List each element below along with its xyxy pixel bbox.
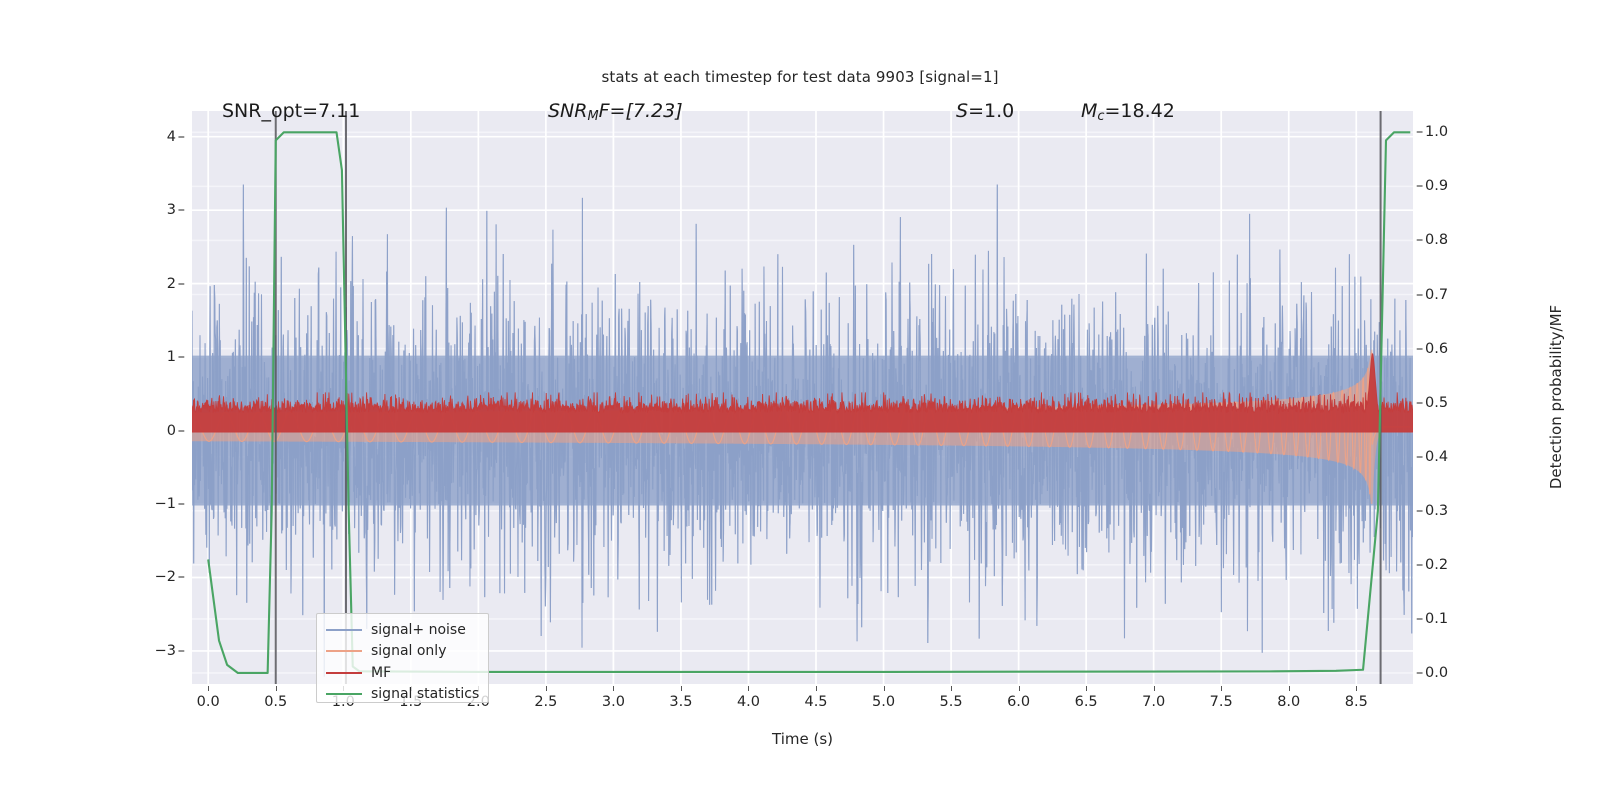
legend-swatch-icon [326, 650, 362, 652]
x-tick-7: 3.5 [651, 694, 711, 710]
x-tick-mark-9 [816, 686, 817, 691]
y-tick-left-4: 0– [125, 423, 185, 439]
y-tick-right-4: –0.6 [1416, 341, 1486, 357]
x-tick-mark-14 [1154, 686, 1155, 691]
legend-item-1[interactable]: signal only [317, 641, 488, 663]
y-tick-right-0: –1.0 [1416, 124, 1486, 140]
y-tick-left-1: 3– [125, 202, 185, 218]
legend-item-2[interactable]: MF [317, 662, 488, 684]
annotation-mc-post: =18.42 [1105, 100, 1175, 122]
y-tick-right-1: –0.9 [1416, 178, 1486, 194]
annotation-snr-opt: SNR_opt=7.11 [222, 100, 360, 122]
y-tick-right-2: –0.8 [1416, 232, 1486, 248]
legend-swatch-icon [326, 672, 362, 674]
annotation-snr-mf-pre: SNR [548, 100, 587, 122]
y-tick-right-8: –0.2 [1416, 557, 1486, 573]
x-tick-15: 7.5 [1191, 694, 1251, 710]
x-tick-mark-15 [1221, 686, 1222, 691]
y-tick-right-6: –0.4 [1416, 449, 1486, 465]
plot-svg [192, 111, 1413, 684]
legend-label: signal+ noise [371, 622, 466, 638]
annotation-mc: Mc=18.42 [1081, 100, 1175, 124]
y-tick-right-3: –0.7 [1416, 287, 1486, 303]
y-tick-left-0: 4– [125, 129, 185, 145]
y-tick-left-5: −1– [125, 496, 185, 512]
y-tick-left-3: 1– [125, 349, 185, 365]
x-tick-mark-12 [1019, 686, 1020, 691]
y-tick-left-6: −2– [125, 569, 185, 585]
x-tick-10: 5.0 [854, 694, 914, 710]
y-tick-right-9: –0.1 [1416, 611, 1486, 627]
x-tick-mark-8 [748, 686, 749, 691]
x-tick-8: 4.0 [718, 694, 778, 710]
legend-item-0[interactable]: signal+ noise [317, 619, 488, 641]
x-tick-14: 7.0 [1124, 694, 1184, 710]
annotation-mc-pre: M [1081, 100, 1097, 122]
x-axis-label: Time (s) [192, 730, 1413, 748]
y-tick-left-2: 2– [125, 276, 185, 292]
legend-swatch-icon [326, 693, 362, 695]
legend-label: signal only [371, 643, 446, 659]
x-tick-0: 0.0 [178, 694, 238, 710]
chart-title: stats at each timestep for test data 990… [0, 68, 1600, 86]
x-tick-mark-10 [884, 686, 885, 691]
legend: signal+ noisesignal onlyMFsignal statist… [316, 613, 489, 703]
legend-label: signal statistics [371, 686, 479, 702]
x-tick-mark-17 [1356, 686, 1357, 691]
plot-area [192, 111, 1413, 684]
x-tick-mark-6 [613, 686, 614, 691]
x-tick-mark-5 [546, 686, 547, 691]
x-tick-5: 2.5 [516, 694, 576, 710]
x-tick-mark-13 [1086, 686, 1087, 691]
annotation-mc-sub: c [1097, 109, 1104, 124]
annotation-snr-mf: SNRMF=[7.23] [548, 100, 683, 124]
x-tick-12: 6.0 [989, 694, 1049, 710]
x-tick-17: 8.5 [1326, 694, 1386, 710]
x-tick-mark-16 [1289, 686, 1290, 691]
x-tick-16: 8.0 [1259, 694, 1319, 710]
x-tick-6: 3.0 [583, 694, 643, 710]
legend-label: MF [371, 665, 391, 681]
x-tick-mark-7 [681, 686, 682, 691]
x-tick-mark-11 [951, 686, 952, 691]
x-tick-13: 6.5 [1056, 694, 1116, 710]
y-tick-right-5: –0.5 [1416, 395, 1486, 411]
annotation-s-post: =1.0 [968, 100, 1014, 122]
y-tick-right-7: –0.3 [1416, 503, 1486, 519]
legend-swatch-icon [326, 629, 362, 631]
y-tick-right-10: –0.0 [1416, 665, 1486, 681]
annotation-s: S=1.0 [956, 100, 1014, 122]
x-tick-mark-0 [208, 686, 209, 691]
y-axis-label-right: Detection probability/MF [1547, 247, 1565, 547]
figure-canvas: stats at each timestep for test data 990… [0, 0, 1600, 800]
x-tick-11: 5.5 [921, 694, 981, 710]
annotation-snr-mf-sub: M [587, 109, 598, 124]
legend-item-3[interactable]: signal statistics [317, 684, 488, 706]
annotation-s-pre: S [956, 100, 968, 122]
x-tick-mark-1 [276, 686, 277, 691]
x-tick-9: 4.5 [786, 694, 846, 710]
x-tick-1: 0.5 [246, 694, 306, 710]
annotation-snr-mf-post: F=[7.23] [599, 100, 683, 122]
y-tick-left-7: −3– [125, 643, 185, 659]
